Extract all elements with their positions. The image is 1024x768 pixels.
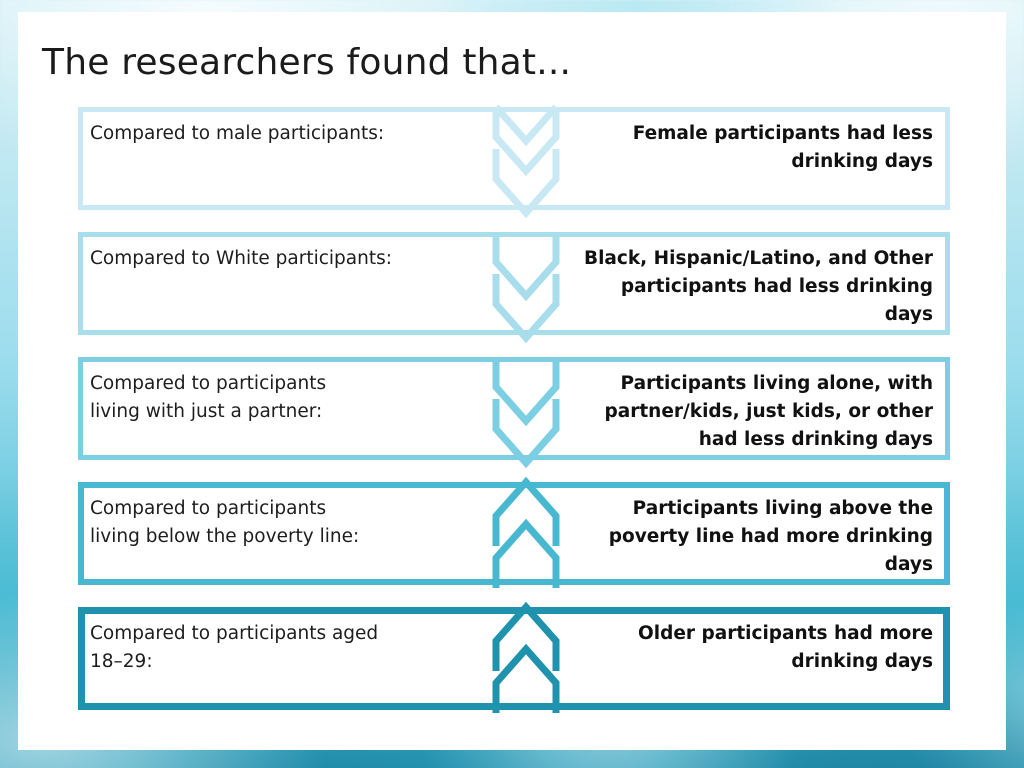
finding-row: Compared to male participants: Female pa… [78, 107, 950, 210]
finding-row: Compared to White participants: Black, H… [78, 232, 950, 335]
finding-row: Compared to participants living with jus… [78, 357, 950, 460]
finding-row: Compared to participants living below th… [78, 482, 950, 585]
row-comparison-text: Compared to participants aged 18–29: [90, 618, 486, 676]
row-finding-text: Participants living alone, with partner/… [570, 368, 933, 454]
slide-card: The researchers found that... Compared t… [18, 12, 1006, 750]
row-finding-text: Older participants had more drinking day… [570, 618, 933, 676]
finding-row: Compared to participants aged 18–29: Old… [78, 607, 950, 710]
row-finding-text: Female participants had less drinking da… [570, 118, 933, 176]
row-comparison-text: Compared to White participants: [90, 243, 486, 273]
row-comparison-text: Compared to participants living with jus… [90, 368, 486, 426]
row-comparison-text: Compared to male participants: [90, 118, 486, 148]
row-comparison-text: Compared to participants living below th… [90, 493, 486, 551]
row-finding-text: Participants living above the poverty li… [570, 493, 933, 579]
page-title: The researchers found that... [42, 42, 571, 83]
findings-list: Compared to male participants: Female pa… [78, 107, 950, 710]
row-finding-text: Black, Hispanic/Latino, and Other partic… [570, 243, 933, 329]
